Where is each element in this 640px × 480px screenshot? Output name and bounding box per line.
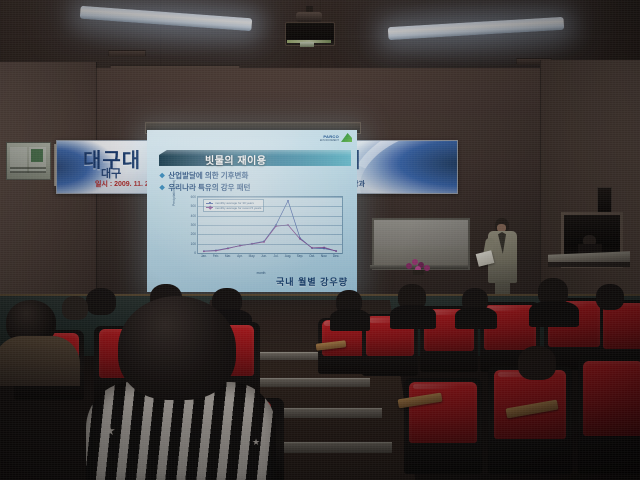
flower-petal xyxy=(406,263,412,269)
chart-gridline xyxy=(198,197,342,198)
chart-x-tick: Sep. xyxy=(297,254,304,258)
chart-x-tick: Jul. xyxy=(274,254,279,258)
chart-x-tick: Apr. xyxy=(237,254,243,258)
wall-speaker xyxy=(597,187,612,213)
audience-shoulders xyxy=(455,307,497,329)
chart-y-tick: 500 xyxy=(191,204,196,208)
audience-shoulders xyxy=(390,305,436,329)
wall-corner-right xyxy=(540,60,541,315)
slide-caption: 국내 월별 강우량 xyxy=(276,275,348,288)
star-icon: ★ xyxy=(104,424,116,437)
chart-x-tick: Oct. xyxy=(309,254,315,258)
chart-x-tick: Mar. xyxy=(225,254,231,258)
star-icon: ★ xyxy=(224,416,234,427)
audience-body xyxy=(0,336,80,386)
audience-shoulders xyxy=(529,301,579,327)
bullet-marker-icon: ❖ xyxy=(159,173,165,180)
bullet-marker-icon: ❖ xyxy=(159,185,165,192)
poster-text-line xyxy=(10,167,46,169)
slide-logo-subtext: ENVIRONMENT xyxy=(320,139,339,142)
poster-text-line xyxy=(10,171,46,173)
auditorium-seat xyxy=(578,356,640,474)
audience-member xyxy=(0,300,80,380)
legend-swatch-icon xyxy=(206,207,213,208)
audience-head xyxy=(118,296,236,400)
chart-x-tick: Feb. xyxy=(213,254,219,258)
chart-x-tick: Nov. xyxy=(321,254,327,258)
auditorium-photo: 대구대 대구 일시 : 2009. 11. 20(금) 발표회 발표회 대구대학… xyxy=(0,0,640,480)
chart-y-tick: 600 xyxy=(191,195,196,199)
ceiling-vent xyxy=(108,50,146,57)
chart-y-tick: 100 xyxy=(191,242,196,246)
seat-cushion xyxy=(583,361,640,437)
projector-bracket xyxy=(296,12,322,22)
flower-arrangement xyxy=(404,258,434,274)
chart-x-tick: Jan. xyxy=(201,254,207,258)
chart-y-tick: 0 xyxy=(194,251,196,255)
poster-column xyxy=(10,147,27,173)
chart-line-5y xyxy=(204,225,336,251)
chart-x-tick: Jun. xyxy=(261,254,267,258)
poster-image xyxy=(31,149,43,162)
chart-x-tick: Aug. xyxy=(285,254,292,258)
chart-x-tick: Dec. xyxy=(333,254,340,258)
booth-counter-edge xyxy=(548,262,630,267)
right-wall xyxy=(540,60,640,315)
flower-petal xyxy=(424,265,430,271)
chart-gridline xyxy=(198,216,342,217)
slide-title: 빗물의 재이용 xyxy=(205,152,355,167)
chart-gridline xyxy=(198,234,342,235)
legend-swatch-icon xyxy=(206,203,213,204)
slide-bullet-2-text: 우리나라 특유의 강우 패턴 xyxy=(168,183,250,192)
foreground-attendee-striped-jacket: ★ ★ ★ ★ xyxy=(86,296,276,480)
chart-y-tick: 200 xyxy=(191,232,196,236)
flower-vase xyxy=(413,270,424,275)
chart-data-point xyxy=(287,200,288,202)
audience-head xyxy=(596,284,624,310)
auditorium-seat xyxy=(404,378,482,474)
star-icon: ★ xyxy=(252,438,260,447)
chart-plot-area: monthly average for 30 years monthly ave… xyxy=(197,196,343,254)
wall-notice-poster xyxy=(6,142,51,180)
auditorium-seat xyxy=(488,366,572,474)
rainfall-chart: Precipitation (mm) monthly average for 3… xyxy=(173,194,349,266)
star-icon: ★ xyxy=(138,442,147,452)
chart-gridline xyxy=(198,244,342,245)
chart-gridline xyxy=(198,225,342,226)
projector-lens xyxy=(300,42,314,47)
chart-x-axis-label: month xyxy=(257,271,266,275)
chart-y-tick: 300 xyxy=(191,223,196,227)
seat-cushion xyxy=(409,382,476,443)
projection-screen: PARCO ENVIRONMENT 빗물의 재이용 ❖산업발달에 의한 기후변화… xyxy=(147,130,357,292)
audience-shoulders xyxy=(330,309,370,331)
slide-logo: PARCO ENVIRONMENT xyxy=(316,133,352,145)
audience-head xyxy=(518,346,556,380)
chart-x-tick: May. xyxy=(249,254,256,258)
chart-y-tick: 400 xyxy=(191,214,196,218)
slide-bullet-1-text: 산업발달에 의한 기후변화 xyxy=(168,171,248,180)
leaf-icon xyxy=(341,133,352,142)
chart-y-axis-label: Precipitation (mm) xyxy=(172,180,176,206)
seat-highlight xyxy=(413,384,460,389)
chart-gridline xyxy=(198,206,342,207)
